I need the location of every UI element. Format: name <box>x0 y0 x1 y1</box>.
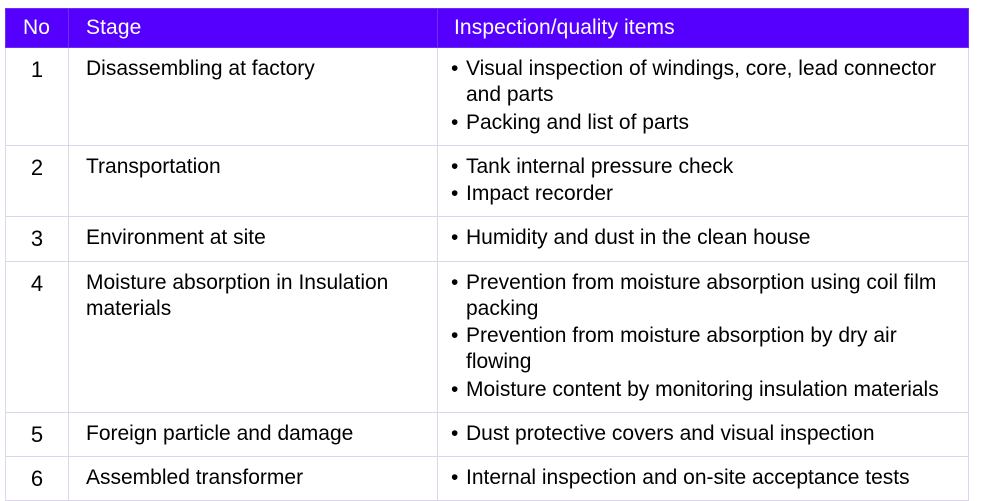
row-number-cell: 2 <box>6 145 69 217</box>
bullet-dot-icon: • <box>451 110 458 136</box>
inspection-items-cell: •Visual inspection of windings, core, le… <box>438 48 969 146</box>
inspection-item: •Prevention from moisture absorption by … <box>449 323 964 376</box>
column-header-no: No <box>6 9 69 48</box>
inspection-item-text: Moisture content by monitoring insulatio… <box>466 378 939 401</box>
inspection-item-text: Dust protective covers and visual inspec… <box>466 422 875 445</box>
inspection-item-list: •Visual inspection of windings, core, le… <box>449 56 964 136</box>
stage-cell: Transportation <box>69 145 438 217</box>
stage-label: Assembled transformer <box>86 465 431 491</box>
inspection-item: •Tank internal pressure check <box>449 154 964 180</box>
inspection-item-text: Humidity and dust in the clean house <box>466 226 810 249</box>
stage-cell: Assembled transformer <box>69 457 438 501</box>
inspection-quality-table: No Stage Inspection/quality items 1Disas… <box>5 8 969 501</box>
inspection-item-text: Prevention from moisture absorption by d… <box>466 324 897 373</box>
stage-label: Transportation <box>86 154 431 180</box>
stage-label: Foreign particle and damage <box>86 421 431 447</box>
table-body: 1Disassembling at factory•Visual inspect… <box>6 48 969 501</box>
bullet-dot-icon: • <box>451 270 458 296</box>
inspection-item: •Moisture content by monitoring insulati… <box>449 377 964 403</box>
inspection-items-cell: •Humidity and dust in the clean house <box>438 217 969 261</box>
inspection-item: •Impact recorder <box>449 181 964 207</box>
row-number-cell: 5 <box>6 412 69 456</box>
bullet-dot-icon: • <box>451 56 458 82</box>
inspection-item-text: Internal inspection and on-site acceptan… <box>466 466 910 489</box>
bullet-dot-icon: • <box>451 154 458 180</box>
column-header-stage: Stage <box>69 9 438 48</box>
inspection-item: •Packing and list of parts <box>449 110 964 136</box>
bullet-dot-icon: • <box>451 377 458 403</box>
inspection-items-cell: •Tank internal pressure check•Impact rec… <box>438 145 969 217</box>
inspection-item: •Dust protective covers and visual inspe… <box>449 421 964 447</box>
bullet-dot-icon: • <box>451 465 458 491</box>
table-row: 5Foreign particle and damage•Dust protec… <box>6 412 969 456</box>
bullet-dot-icon: • <box>451 181 458 207</box>
stage-label: Disassembling at factory <box>86 56 431 82</box>
inspection-items-cell: •Prevention from moisture absorption usi… <box>438 261 969 412</box>
inspection-item-list: •Internal inspection and on-site accepta… <box>449 465 964 491</box>
inspection-item-list: •Tank internal pressure check•Impact rec… <box>449 154 964 208</box>
inspection-item-list: •Dust protective covers and visual inspe… <box>449 421 964 447</box>
row-number-cell: 6 <box>6 457 69 501</box>
table-row: 4Moisture absorption in Insulation mater… <box>6 261 969 412</box>
column-header-inspection-items: Inspection/quality items <box>438 9 969 48</box>
stage-label: Environment at site <box>86 225 431 251</box>
table-row: 1Disassembling at factory•Visual inspect… <box>6 48 969 146</box>
inspection-item-text: Prevention from moisture absorption usin… <box>466 271 936 320</box>
bullet-dot-icon: • <box>451 421 458 447</box>
table-row: 6Assembled transformer•Internal inspecti… <box>6 457 969 501</box>
table-header-row: No Stage Inspection/quality items <box>6 9 969 48</box>
inspection-items-cell: •Internal inspection and on-site accepta… <box>438 457 969 501</box>
inspection-item-text: Visual inspection of windings, core, lea… <box>466 57 936 106</box>
row-number-cell: 3 <box>6 217 69 261</box>
inspection-item-text: Tank internal pressure check <box>466 155 733 178</box>
inspection-item-list: •Humidity and dust in the clean house <box>449 225 964 251</box>
bullet-dot-icon: • <box>451 323 458 349</box>
inspection-item: •Visual inspection of windings, core, le… <box>449 56 964 109</box>
inspection-item: •Humidity and dust in the clean house <box>449 225 964 251</box>
bullet-dot-icon: • <box>451 225 458 251</box>
table-row: 3Environment at site•Humidity and dust i… <box>6 217 969 261</box>
row-number-cell: 1 <box>6 48 69 146</box>
inspection-item-list: •Prevention from moisture absorption usi… <box>449 270 964 403</box>
stage-label: Moisture absorption in Insulation materi… <box>86 270 431 323</box>
inspection-table-container: No Stage Inspection/quality items 1Disas… <box>5 8 968 501</box>
inspection-item: •Prevention from moisture absorption usi… <box>449 270 964 323</box>
table-header: No Stage Inspection/quality items <box>6 9 969 48</box>
stage-cell: Environment at site <box>69 217 438 261</box>
inspection-item-text: Packing and list of parts <box>466 111 689 134</box>
row-number-cell: 4 <box>6 261 69 412</box>
inspection-items-cell: •Dust protective covers and visual inspe… <box>438 412 969 456</box>
stage-cell: Moisture absorption in Insulation materi… <box>69 261 438 412</box>
table-row: 2Transportation•Tank internal pressure c… <box>6 145 969 217</box>
inspection-item-text: Impact recorder <box>466 182 613 205</box>
inspection-item: •Internal inspection and on-site accepta… <box>449 465 964 491</box>
stage-cell: Disassembling at factory <box>69 48 438 146</box>
stage-cell: Foreign particle and damage <box>69 412 438 456</box>
